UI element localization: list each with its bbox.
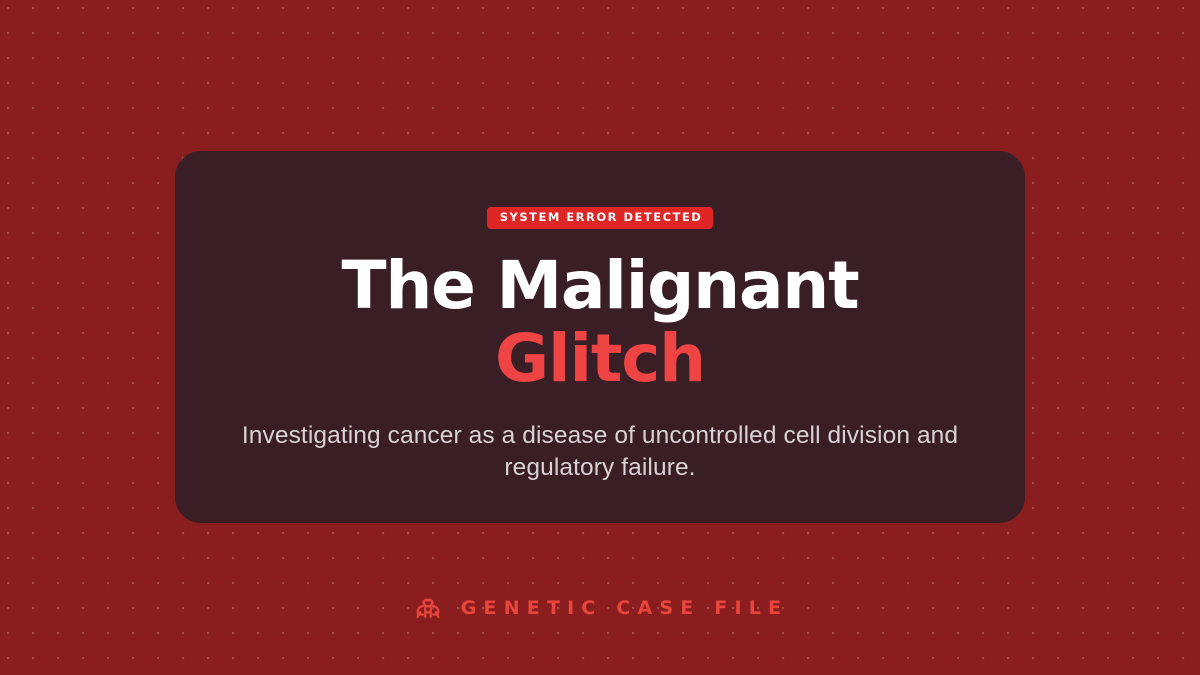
page-title: The Malignant Glitch — [342, 249, 859, 397]
slide-root: SYSTEM ERROR DETECTED The Malignant Glit… — [0, 0, 1200, 675]
subtitle-text: Investigating cancer as a disease of unc… — [230, 420, 970, 484]
title-line-accent: Glitch — [342, 322, 859, 396]
status-badge: SYSTEM ERROR DETECTED — [487, 207, 714, 229]
footer: GENETIC CASE FILE — [0, 592, 1200, 624]
title-card: SYSTEM ERROR DETECTED The Malignant Glit… — [175, 151, 1025, 523]
biohazard-icon — [412, 592, 444, 624]
footer-label: GENETIC CASE FILE — [461, 599, 789, 618]
title-line-primary: The Malignant — [342, 249, 859, 323]
